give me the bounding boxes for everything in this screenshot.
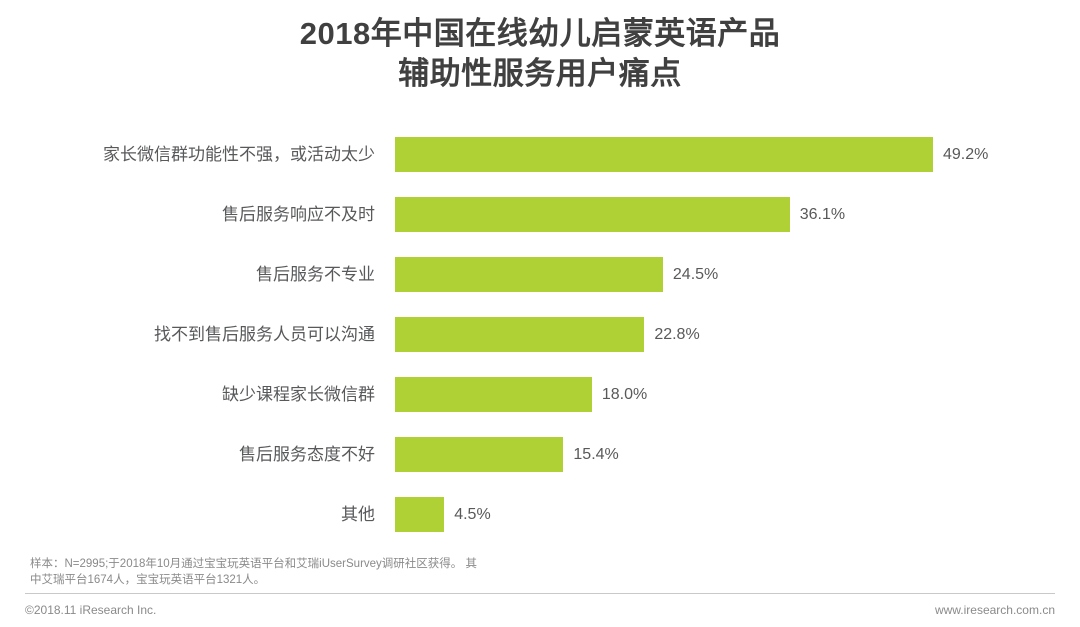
bar-value-label: 49.2%	[943, 137, 988, 172]
chart-row: 售后服务响应不及时36.1%	[0, 197, 1080, 257]
bar-group: 15.4%	[395, 437, 619, 472]
source-footnote: 样本：N=2995;于2018年10月通过宝宝玩英语平台和艾瑞iUserSurv…	[30, 556, 590, 588]
bar-group: 49.2%	[395, 137, 988, 172]
bar-group: 22.8%	[395, 317, 700, 352]
copyright-text: ©2018.11 iResearch Inc.	[25, 603, 156, 617]
chart-bar[interactable]	[395, 317, 644, 352]
category-label: 售后服务响应不及时	[0, 197, 375, 232]
chart-bar[interactable]	[395, 257, 663, 292]
chart-row: 家长微信群功能性不强，或活动太少49.2%	[0, 137, 1080, 197]
bar-chart: 家长微信群功能性不强，或活动太少49.2%售后服务响应不及时36.1%售后服务不…	[0, 137, 1080, 537]
bar-group: 24.5%	[395, 257, 718, 292]
category-label: 其他	[0, 497, 375, 532]
source-footnote-line-2: 中艾瑞平台1674人，宝宝玩英语平台1321人。	[30, 572, 590, 588]
bar-value-label: 36.1%	[800, 197, 845, 232]
category-label: 找不到售后服务人员可以沟通	[0, 317, 375, 352]
footer-divider	[25, 593, 1055, 594]
bar-value-label: 4.5%	[454, 497, 490, 532]
category-label: 售后服务态度不好	[0, 437, 375, 472]
category-label: 售后服务不专业	[0, 257, 375, 292]
bar-value-label: 18.0%	[602, 377, 647, 412]
chart-row: 缺少课程家长微信群18.0%	[0, 377, 1080, 437]
chart-row: 售后服务不专业24.5%	[0, 257, 1080, 317]
chart-row: 其他4.5%	[0, 497, 1080, 557]
chart-bar[interactable]	[395, 437, 563, 472]
page-title-line-2: 辅助性服务用户痛点	[0, 54, 1080, 94]
page-title-line-1: 2018年中国在线幼儿启蒙英语产品	[0, 14, 1080, 54]
chart-bar[interactable]	[395, 197, 790, 232]
chart-bar[interactable]	[395, 377, 592, 412]
bar-value-label: 15.4%	[573, 437, 618, 472]
source-footnote-line-1: 样本：N=2995;于2018年10月通过宝宝玩英语平台和艾瑞iUserSurv…	[30, 556, 590, 572]
bar-group: 4.5%	[395, 497, 491, 532]
website-link[interactable]: www.iresearch.com.cn	[935, 603, 1055, 617]
category-label: 缺少课程家长微信群	[0, 377, 375, 412]
bar-group: 36.1%	[395, 197, 845, 232]
page-title: 2018年中国在线幼儿启蒙英语产品 辅助性服务用户痛点	[0, 14, 1080, 94]
chart-bar[interactable]	[395, 137, 933, 172]
bar-group: 18.0%	[395, 377, 647, 412]
bar-value-label: 22.8%	[654, 317, 699, 352]
chart-row: 售后服务态度不好15.4%	[0, 437, 1080, 497]
chart-bar[interactable]	[395, 497, 444, 532]
category-label: 家长微信群功能性不强，或活动太少	[0, 137, 375, 172]
bar-value-label: 24.5%	[673, 257, 718, 292]
chart-row: 找不到售后服务人员可以沟通22.8%	[0, 317, 1080, 377]
page-footer: ©2018.11 iResearch Inc. www.iresearch.co…	[25, 603, 1055, 623]
